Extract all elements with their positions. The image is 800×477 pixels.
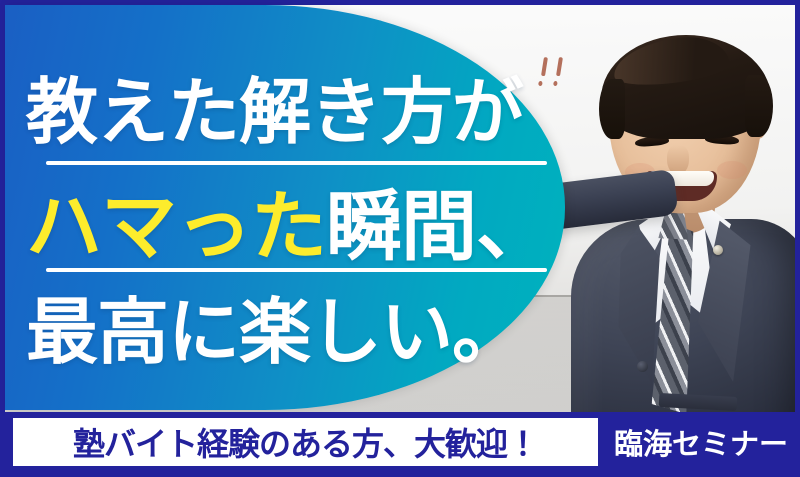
headline-line-2-highlight: ハマった — [26, 182, 326, 271]
brand-name-text: 臨海セミナー — [614, 421, 788, 463]
headline-block: 教えた解き方が ハマった瞬間、 最高に楽しい。 — [20, 5, 540, 410]
hair-side-right — [745, 75, 773, 137]
hair-side-left — [599, 79, 625, 139]
bottom-bar: 塾バイト経験のある方、大歓迎！ 臨海セミナー — [5, 412, 795, 472]
headline-line-2-rest: 瞬間、 — [326, 182, 551, 271]
headline-line-3: 最高に楽しい。 — [26, 273, 523, 378]
headline-divider-2 — [46, 268, 547, 272]
catch-copy-text: 塾バイト経験のある方、大歓迎！ — [73, 419, 538, 465]
recruitment-banner[interactable]: 教えた解き方が ハマった瞬間、 最高に楽しい。 塾バイト経験のある方、大歓迎！ … — [0, 0, 800, 477]
catch-copy-box: 塾バイト経験のある方、大歓迎！ — [13, 418, 598, 466]
headline-line-1: 教えた解き方が — [26, 53, 523, 158]
lapel-pin-icon — [713, 245, 723, 255]
cheek-right — [717, 161, 747, 179]
brand-logo[interactable]: 臨海セミナー — [611, 418, 791, 466]
headline-line-2: ハマった瞬間、 — [26, 165, 551, 275]
jacket-button — [637, 361, 648, 372]
